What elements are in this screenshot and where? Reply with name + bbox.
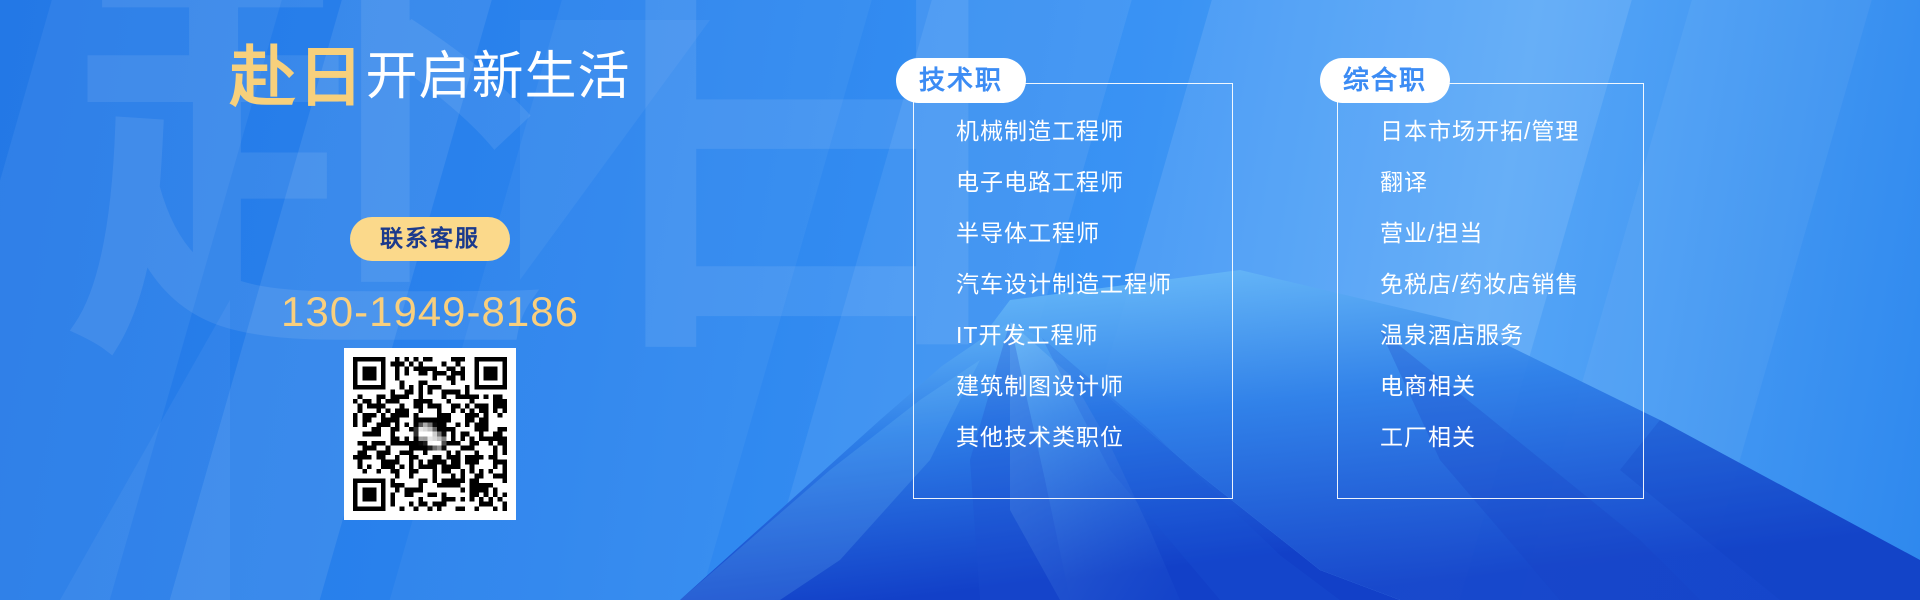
list-item[interactable]: IT开发工程师: [956, 324, 1232, 347]
qr-code-image: [353, 357, 507, 511]
list-item[interactable]: 建筑制图设计师: [956, 375, 1232, 398]
list-item[interactable]: 半导体工程师: [956, 222, 1232, 245]
job-category-box-general: 综合职 日本市场开拓/管理 翻译 营业/担当 免税店/药妆店销售 温泉酒店服务 …: [1337, 83, 1644, 499]
contact-support-button[interactable]: 联系客服: [350, 217, 510, 261]
list-item[interactable]: 其他技术类职位: [956, 426, 1232, 449]
list-item[interactable]: 温泉酒店服务: [1380, 324, 1643, 347]
job-category-pill-general: 综合职: [1320, 58, 1450, 103]
headline-highlight: 赴日: [229, 40, 365, 114]
list-item[interactable]: 工厂相关: [1380, 426, 1643, 449]
job-category-pill-technical: 技术职: [896, 58, 1026, 103]
phone-number[interactable]: 130-1949-8186: [0, 288, 860, 336]
job-list-technical: 机械制造工程师 电子电路工程师 半导体工程师 汽车设计制造工程师 IT开发工程师…: [914, 84, 1232, 449]
list-item[interactable]: 免税店/药妆店销售: [1380, 273, 1643, 296]
job-list-general: 日本市场开拓/管理 翻译 营业/担当 免税店/药妆店销售 温泉酒店服务 电商相关…: [1338, 84, 1643, 449]
left-contact-panel: 赴日开启新生活 联系客服 130-1949-8186: [0, 0, 860, 600]
headline-rest: 开启新生活: [365, 48, 630, 106]
mount-fuji-icon: [680, 270, 1920, 600]
promo-banner: 赴日 赴日开启新生活 联系客服 130-1949-8186: [0, 0, 1920, 600]
list-item[interactable]: 营业/担当: [1380, 222, 1643, 245]
wechat-qr-code[interactable]: [344, 348, 516, 520]
list-item[interactable]: 翻译: [1380, 171, 1643, 194]
job-category-box-technical: 技术职 机械制造工程师 电子电路工程师 半导体工程师 汽车设计制造工程师 IT开…: [913, 83, 1233, 499]
list-item[interactable]: 电子电路工程师: [956, 171, 1232, 194]
list-item[interactable]: 机械制造工程师: [956, 120, 1232, 143]
list-item[interactable]: 汽车设计制造工程师: [956, 273, 1232, 296]
list-item[interactable]: 电商相关: [1380, 375, 1643, 398]
list-item[interactable]: 日本市场开拓/管理: [1380, 120, 1643, 143]
page-title: 赴日开启新生活: [0, 44, 860, 110]
